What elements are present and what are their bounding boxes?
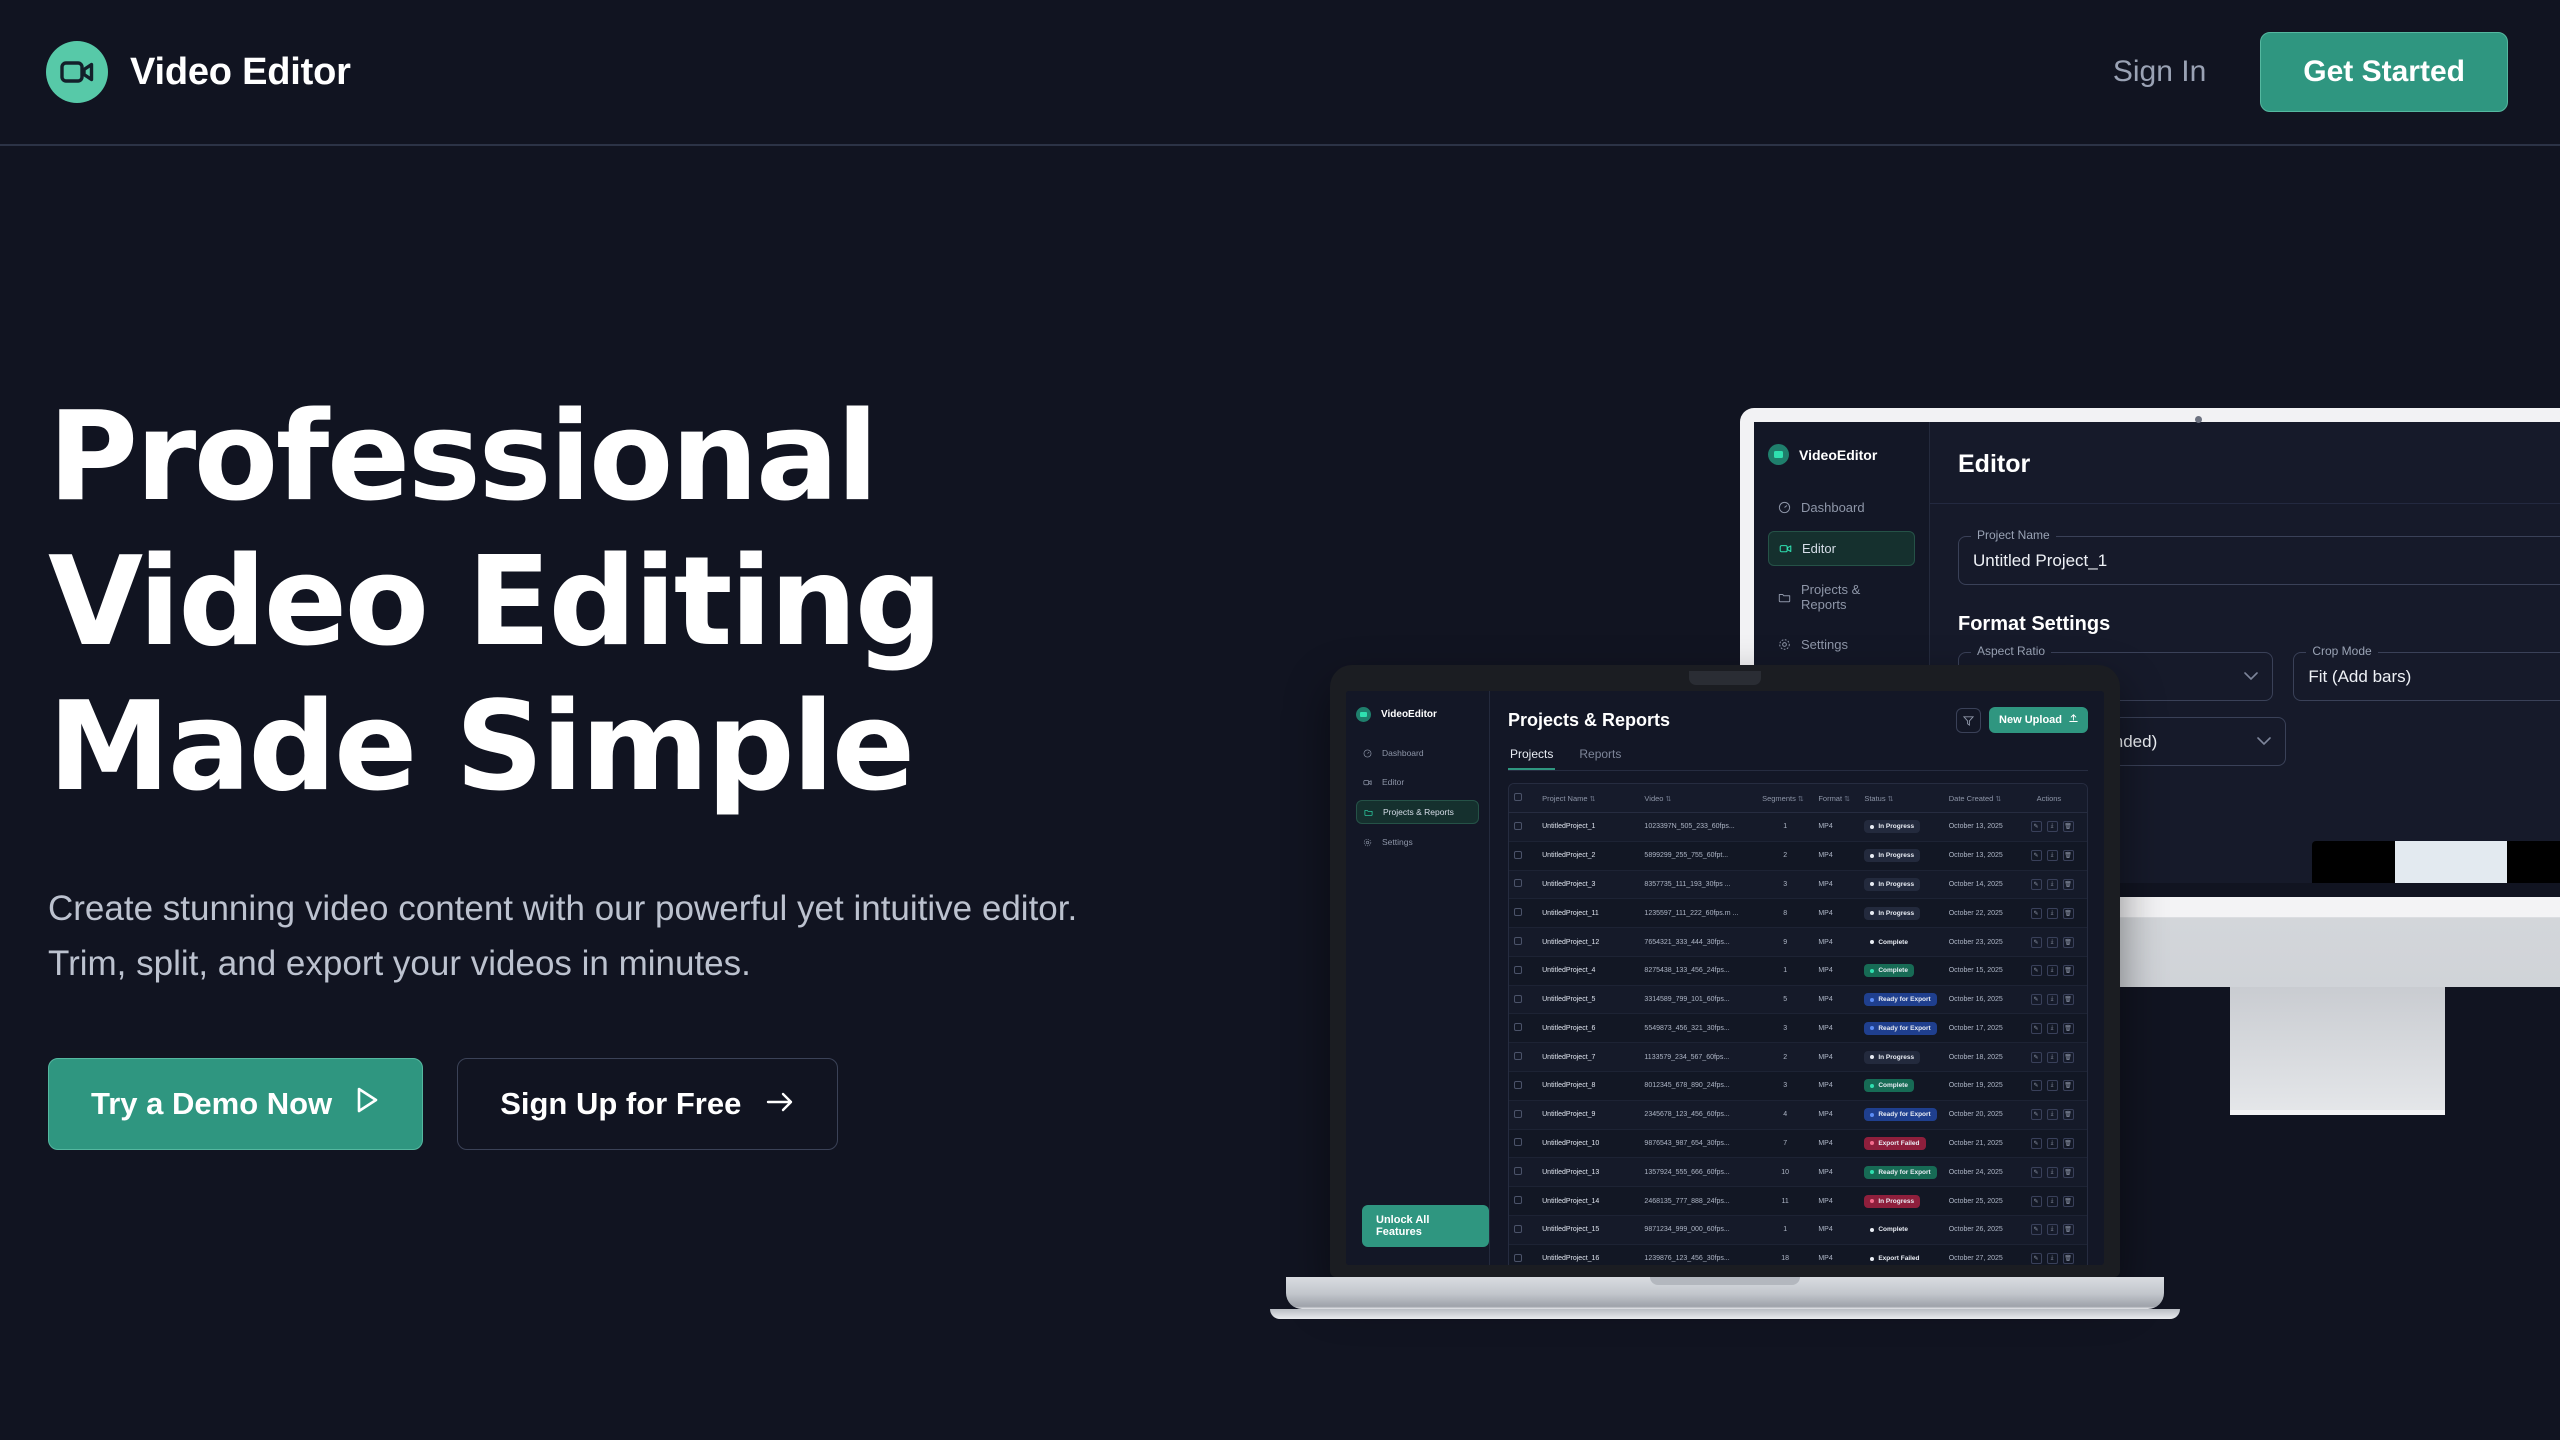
- cell-format: MP4: [1813, 1129, 1859, 1158]
- cell-video: 1235597_111_222_60fps.m ...: [1639, 899, 1757, 928]
- delete-trash-icon[interactable]: 🗑: [2063, 1109, 2074, 1120]
- video-camera-icon: [1356, 707, 1371, 722]
- delete-trash-icon[interactable]: 🗑: [2063, 994, 2074, 1005]
- delete-trash-icon[interactable]: 🗑: [2063, 821, 2074, 832]
- cell-video: 7654321_333_444_30fps...: [1639, 928, 1757, 957]
- row-checkbox[interactable]: [1514, 822, 1522, 830]
- table-body: UntitledProject_11023397N_505_233_60fps.…: [1509, 813, 2087, 1266]
- table-row[interactable]: UntitledProject_131357924_555_666_60fps.…: [1509, 1158, 2087, 1187]
- download-icon[interactable]: ⤓: [2047, 1196, 2058, 1207]
- sidebar-item-settings[interactable]: Settings: [1768, 628, 1915, 661]
- cell-segments: 5: [1757, 985, 1813, 1014]
- table-row[interactable]: UntitledProject_25899299_255_755_60fpt..…: [1509, 841, 2087, 870]
- cell-project-name: UntitledProject_4: [1537, 956, 1639, 985]
- cell-video: 8357735_111_193_30fps ...: [1639, 870, 1757, 899]
- delete-trash-icon[interactable]: 🗑: [2063, 1224, 2074, 1235]
- download-icon[interactable]: ⤓: [2047, 1253, 2058, 1264]
- cell-date-created: October 13, 2025: [1944, 813, 2026, 842]
- download-icon[interactable]: ⤓: [2047, 937, 2058, 948]
- laptop-lid: VideoEditor DashboardEditorProjects & Re…: [1330, 665, 2120, 1277]
- sort-icon[interactable]: ⇅: [1665, 796, 1671, 803]
- cell-segments: 3: [1757, 870, 1813, 899]
- delete-trash-icon[interactable]: 🗑: [2063, 937, 2074, 948]
- row-checkbox[interactable]: [1514, 937, 1522, 945]
- sort-icon[interactable]: ⇅: [1798, 796, 1804, 803]
- cell-actions: ✎⤓🗑: [2026, 1129, 2087, 1158]
- status-badge: In Progress: [1864, 878, 1920, 891]
- cell-actions: ✎⤓🗑: [2026, 813, 2087, 842]
- edit-icon[interactable]: ✎: [2031, 1080, 2042, 1091]
- preview-thumbnail: [2395, 841, 2507, 883]
- delete-trash-icon[interactable]: 🗑: [2063, 1080, 2074, 1091]
- filter-funnel-icon[interactable]: [1956, 708, 1981, 733]
- row-checkbox[interactable]: [1514, 1110, 1522, 1118]
- crop-mode-select[interactable]: Crop Mode Fit (Add bars): [2293, 652, 2560, 701]
- status-dot-icon: [1870, 1199, 1874, 1203]
- cell-format: MP4: [1813, 870, 1859, 899]
- aspect-ratio-label: Aspect Ratio: [1971, 644, 2051, 658]
- cell-status: In Progress: [1859, 1043, 1943, 1072]
- cell-date-created: October 27, 2025: [1944, 1244, 2026, 1265]
- arrow-right-icon: [765, 1086, 795, 1122]
- delete-trash-icon[interactable]: 🗑: [2063, 1052, 2074, 1063]
- row-checkbox-cell[interactable]: [1509, 1158, 1537, 1187]
- get-started-button[interactable]: Get Started: [2260, 32, 2508, 112]
- row-checkbox-cell[interactable]: [1509, 813, 1537, 842]
- unlock-all-features-button[interactable]: Unlock All Features: [1362, 1205, 1489, 1247]
- projects-table: Project Name⇅Video⇅Segments⇅Format⇅Statu…: [1508, 783, 2088, 1265]
- table-header-row: Project Name⇅Video⇅Segments⇅Format⇅Statu…: [1509, 784, 2087, 813]
- try-demo-button[interactable]: Try a Demo Now: [48, 1058, 423, 1150]
- cell-video: 8275438_133_456_24fps...: [1639, 956, 1757, 985]
- download-icon[interactable]: ⤓: [2047, 965, 2058, 976]
- cell-date-created: October 23, 2025: [1944, 928, 2026, 957]
- edit-icon[interactable]: ✎: [2031, 994, 2042, 1005]
- edit-icon[interactable]: ✎: [2031, 1196, 2042, 1207]
- row-checkbox-cell[interactable]: [1509, 956, 1537, 985]
- sidebar-item-editor[interactable]: Editor: [1356, 771, 1479, 793]
- edit-icon[interactable]: ✎: [2031, 1253, 2042, 1264]
- table-row[interactable]: UntitledProject_161239876_123_456_30fps.…: [1509, 1244, 2087, 1265]
- row-checkbox[interactable]: [1514, 851, 1522, 859]
- column-header-segments[interactable]: Segments⇅: [1757, 784, 1813, 813]
- cell-segments: 1: [1757, 956, 1813, 985]
- cell-format: MP4: [1813, 1244, 1859, 1265]
- play-triangle-icon: [354, 1086, 380, 1122]
- brand-logo[interactable]: Video Editor: [46, 41, 351, 103]
- select-all-checkbox[interactable]: [1514, 793, 1522, 801]
- status-badge: Ready for Export: [1864, 993, 1936, 1006]
- project-name-field[interactable]: Project Name Untitled Project_1: [1958, 536, 2560, 585]
- row-checkbox-cell[interactable]: [1509, 1014, 1537, 1043]
- row-checkbox-cell[interactable]: [1509, 985, 1537, 1014]
- cell-status: Ready for Export: [1859, 1014, 1943, 1043]
- cell-status: In Progress: [1859, 841, 1943, 870]
- table-row[interactable]: UntitledProject_142468135_777_888_24fps.…: [1509, 1187, 2087, 1216]
- app-brand: VideoEditor: [1768, 444, 1915, 465]
- page-title: Professional Video Editing Made Simple: [48, 385, 1148, 820]
- download-icon[interactable]: ⤓: [2047, 879, 2058, 890]
- cell-status: In Progress: [1859, 870, 1943, 899]
- cell-date-created: October 24, 2025: [1944, 1158, 2026, 1187]
- cell-actions: ✎⤓🗑: [2026, 956, 2087, 985]
- cell-video: 9876543_987_654_30fps...: [1639, 1129, 1757, 1158]
- edit-icon[interactable]: ✎: [2031, 937, 2042, 948]
- landing-page: Video Editor Sign In Get Started Profess…: [0, 0, 2560, 1440]
- row-checkbox-cell[interactable]: [1509, 899, 1537, 928]
- sidebar-item-label: Projects & Reports: [1383, 807, 1454, 817]
- status-badge: Complete: [1864, 1079, 1914, 1092]
- download-icon[interactable]: ⤓: [2047, 1138, 2058, 1149]
- row-checkbox[interactable]: [1514, 1254, 1522, 1262]
- column-header-project-name[interactable]: Project Name⇅: [1537, 784, 1639, 813]
- cell-date-created: October 13, 2025: [1944, 841, 2026, 870]
- status-badge: Export Failed: [1864, 1137, 1925, 1150]
- status-badge: In Progress: [1864, 1195, 1920, 1208]
- video-player-preview[interactable]: [2312, 841, 2560, 883]
- editor-page-title: Editor: [1958, 450, 2030, 479]
- table-row[interactable]: UntitledProject_48275438_133_456_24fps..…: [1509, 956, 2087, 985]
- cell-status: Export Failed: [1859, 1244, 1943, 1265]
- status-dot-icon: [1870, 1257, 1874, 1261]
- sort-icon[interactable]: ⇅: [1888, 796, 1894, 803]
- download-icon[interactable]: ⤓: [2047, 1109, 2058, 1120]
- cell-video: 5549873_456_321_30fps...: [1639, 1014, 1757, 1043]
- laptop-mockup: VideoEditor DashboardEditorProjects & Re…: [1330, 665, 2120, 1277]
- table-row[interactable]: UntitledProject_111235597_111_222_60fps.…: [1509, 899, 2087, 928]
- status-badge: In Progress: [1864, 849, 1920, 862]
- delete-trash-icon[interactable]: 🗑: [2063, 850, 2074, 861]
- edit-icon[interactable]: ✎: [2031, 1023, 2042, 1034]
- sign-in-link[interactable]: Sign In: [2113, 55, 2206, 89]
- sidebar-item-projects-reports[interactable]: Projects & Reports: [1768, 573, 1915, 621]
- cell-segments: 1: [1757, 813, 1813, 842]
- site-header: Video Editor Sign In Get Started: [0, 0, 2560, 146]
- select-all-header[interactable]: [1509, 784, 1537, 813]
- delete-trash-icon[interactable]: 🗑: [2063, 965, 2074, 976]
- sign-up-free-button[interactable]: Sign Up for Free: [457, 1058, 838, 1150]
- status-badge: Ready for Export: [1864, 1022, 1936, 1035]
- laptop-camera-notch: [1689, 671, 1761, 685]
- cell-status: In Progress: [1859, 899, 1943, 928]
- edit-icon[interactable]: ✎: [2031, 965, 2042, 976]
- cell-video: 2468135_777_888_24fps...: [1639, 1187, 1757, 1216]
- cell-format: MP4: [1813, 1014, 1859, 1043]
- status-badge: In Progress: [1864, 907, 1920, 920]
- row-checkbox[interactable]: [1514, 1225, 1522, 1233]
- cell-project-name: UntitledProject_2: [1537, 841, 1639, 870]
- cell-date-created: October 15, 2025: [1944, 956, 2026, 985]
- row-checkbox-cell[interactable]: [1509, 870, 1537, 899]
- cell-video: 1239876_123_456_30fps...: [1639, 1244, 1757, 1265]
- edit-icon[interactable]: ✎: [2031, 1167, 2042, 1178]
- delete-trash-icon[interactable]: 🗑: [2063, 1138, 2074, 1149]
- gauge-icon: [1363, 749, 1372, 758]
- cell-date-created: October 19, 2025: [1944, 1072, 2026, 1101]
- laptop-screen: VideoEditor DashboardEditorProjects & Re…: [1346, 691, 2104, 1265]
- status-dot-icon: [1870, 998, 1874, 1002]
- cell-format: MP4: [1813, 1072, 1859, 1101]
- edit-icon[interactable]: ✎: [2031, 1109, 2042, 1120]
- tab-reports[interactable]: Reports: [1577, 747, 1623, 770]
- row-checkbox[interactable]: [1514, 1196, 1522, 1204]
- table-row[interactable]: UntitledProject_53314589_799_101_60fps..…: [1509, 985, 2087, 1014]
- cell-actions: ✎⤓🗑: [2026, 841, 2087, 870]
- cell-segments: 8: [1757, 899, 1813, 928]
- download-icon[interactable]: ⤓: [2047, 1023, 2058, 1034]
- status-dot-icon: [1870, 1113, 1874, 1117]
- download-icon[interactable]: ⤓: [2047, 1080, 2058, 1091]
- download-icon[interactable]: ⤓: [2047, 1167, 2058, 1178]
- table-row[interactable]: UntitledProject_38357735_111_193_30fps .…: [1509, 870, 2087, 899]
- delete-trash-icon[interactable]: 🗑: [2063, 1167, 2074, 1178]
- cell-status: Export Failed: [1859, 1129, 1943, 1158]
- cell-actions: ✎⤓🗑: [2026, 1014, 2087, 1043]
- row-checkbox[interactable]: [1514, 1052, 1522, 1060]
- download-icon[interactable]: ⤓: [2047, 1052, 2058, 1063]
- cell-status: Complete: [1859, 1215, 1943, 1244]
- edit-icon[interactable]: ✎: [2031, 908, 2042, 919]
- cell-format: MP4: [1813, 956, 1859, 985]
- project-name-value: Untitled Project_1: [1973, 551, 2560, 571]
- laptop-nav-list: DashboardEditorProjects & ReportsSetting…: [1356, 742, 1479, 853]
- header-nav: Sign In Get Started: [2113, 32, 2508, 112]
- column-header-format[interactable]: Format⇅: [1813, 784, 1859, 813]
- laptop-base-notch: [1650, 1277, 1800, 1285]
- cell-actions: ✎⤓🗑: [2026, 1215, 2087, 1244]
- delete-trash-icon[interactable]: 🗑: [2063, 1253, 2074, 1264]
- edit-icon[interactable]: ✎: [2031, 821, 2042, 832]
- delete-trash-icon[interactable]: 🗑: [2063, 1196, 2074, 1207]
- download-icon[interactable]: ⤓: [2047, 821, 2058, 832]
- download-icon[interactable]: ⤓: [2047, 908, 2058, 919]
- cell-segments: 2: [1757, 841, 1813, 870]
- cell-format: MP4: [1813, 1187, 1859, 1216]
- cell-video: 1357924_555_666_60fps...: [1639, 1158, 1757, 1187]
- project-name-label: Project Name: [1971, 528, 2056, 542]
- cell-segments: 11: [1757, 1187, 1813, 1216]
- cell-actions: ✎⤓🗑: [2026, 1158, 2087, 1187]
- table-row[interactable]: UntitledProject_127654321_333_444_30fps.…: [1509, 928, 2087, 957]
- column-header-actions[interactable]: Actions: [2026, 784, 2087, 813]
- row-checkbox-cell[interactable]: [1509, 1244, 1537, 1265]
- cell-status: Ready for Export: [1859, 1158, 1943, 1187]
- sort-icon[interactable]: ⇅: [1590, 796, 1596, 803]
- sidebar-item-dashboard[interactable]: Dashboard: [1768, 491, 1915, 524]
- hero-line-2: Video Editing: [48, 530, 1148, 675]
- row-checkbox[interactable]: [1514, 879, 1522, 887]
- sidebar-item-label: Projects & Reports: [1801, 582, 1905, 612]
- crop-mode-label: Crop Mode: [2306, 644, 2377, 658]
- edit-icon[interactable]: ✎: [2031, 1052, 2042, 1063]
- status-badge: Complete: [1864, 936, 1914, 949]
- hero-line-1: Professional: [48, 385, 1148, 530]
- cell-project-name: UntitledProject_12: [1537, 928, 1639, 957]
- row-checkbox-cell[interactable]: [1509, 928, 1537, 957]
- projects-header-actions: New Upload: [1956, 707, 2088, 733]
- table-row[interactable]: UntitledProject_109876543_987_654_30fps.…: [1509, 1129, 2087, 1158]
- cell-status: Ready for Export: [1859, 1100, 1943, 1129]
- edit-icon[interactable]: ✎: [2031, 879, 2042, 890]
- status-badge: Ready for Export: [1864, 1108, 1936, 1121]
- cell-actions: ✎⤓🗑: [2026, 928, 2087, 957]
- download-icon[interactable]: ⤓: [2047, 1224, 2058, 1235]
- status-badge: Ready for Export: [1864, 1166, 1936, 1179]
- column-header-status[interactable]: Status⇅: [1859, 784, 1943, 813]
- cell-status: Complete: [1859, 956, 1943, 985]
- cell-segments: 18: [1757, 1244, 1813, 1265]
- cell-video: 1023397N_505_233_60fps...: [1639, 813, 1757, 842]
- row-checkbox[interactable]: [1514, 995, 1522, 1003]
- cell-format: MP4: [1813, 899, 1859, 928]
- row-checkbox[interactable]: [1514, 908, 1522, 916]
- sidebar-item-settings[interactable]: Settings: [1356, 831, 1479, 853]
- cell-project-name: UntitledProject_11: [1537, 899, 1639, 928]
- row-checkbox[interactable]: [1514, 1081, 1522, 1089]
- edit-icon[interactable]: ✎: [2031, 1224, 2042, 1235]
- cell-project-name: UntitledProject_16: [1537, 1244, 1639, 1265]
- row-checkbox-cell[interactable]: [1509, 1187, 1537, 1216]
- table-row[interactable]: UntitledProject_65549873_456_321_30fps..…: [1509, 1014, 2087, 1043]
- gear-icon: [1363, 838, 1372, 847]
- cell-video: 8012345_678_890_24fps...: [1639, 1072, 1757, 1101]
- status-dot-icon: [1870, 940, 1874, 944]
- delete-trash-icon[interactable]: 🗑: [2063, 879, 2074, 890]
- cell-project-name: UntitledProject_10: [1537, 1129, 1639, 1158]
- laptop-base-foot: [1270, 1309, 2180, 1319]
- monitor-stand: [2230, 987, 2445, 1115]
- status-badge: Complete: [1864, 1223, 1914, 1236]
- row-checkbox-cell[interactable]: [1509, 1129, 1537, 1158]
- row-checkbox-cell[interactable]: [1509, 1072, 1537, 1101]
- cell-project-name: UntitledProject_7: [1537, 1043, 1639, 1072]
- cell-format: MP4: [1813, 1100, 1859, 1129]
- new-upload-button[interactable]: New Upload: [1989, 707, 2088, 733]
- cell-project-name: UntitledProject_13: [1537, 1158, 1639, 1187]
- folder-icon: [1778, 591, 1791, 604]
- sidebar-item-editor[interactable]: Editor: [1768, 531, 1915, 566]
- row-checkbox[interactable]: [1514, 966, 1522, 974]
- gear-icon: [1778, 638, 1791, 651]
- status-badge: In Progress: [1864, 1051, 1920, 1064]
- hero-line-3: Made Simple: [48, 675, 1148, 820]
- cell-format: MP4: [1813, 985, 1859, 1014]
- row-checkbox-cell[interactable]: [1509, 1215, 1537, 1244]
- laptop-sidebar: VideoEditor DashboardEditorProjects & Re…: [1346, 691, 1490, 1265]
- row-checkbox-cell[interactable]: [1509, 841, 1537, 870]
- row-checkbox[interactable]: [1514, 1023, 1522, 1031]
- try-demo-label: Try a Demo Now: [91, 1086, 332, 1122]
- projects-header: Projects & Reports New Upload: [1508, 707, 2088, 733]
- cell-video: 1133579_234_567_60fps...: [1639, 1043, 1757, 1072]
- sidebar-item-dashboard[interactable]: Dashboard: [1356, 742, 1479, 764]
- table-row[interactable]: UntitledProject_71133579_234_567_60fps..…: [1509, 1043, 2087, 1072]
- sidebar-item-label: Settings: [1801, 637, 1848, 652]
- row-checkbox[interactable]: [1514, 1138, 1522, 1146]
- gauge-icon: [1778, 501, 1791, 514]
- device-mockups: VideoEditor DashboardEditorProjects & Re…: [1330, 370, 2560, 1200]
- cell-date-created: October 22, 2025: [1944, 899, 2026, 928]
- sidebar-item-label: Dashboard: [1801, 500, 1865, 515]
- upload-icon: [2069, 714, 2078, 726]
- cell-date-created: October 18, 2025: [1944, 1043, 2026, 1072]
- cell-format: MP4: [1813, 813, 1859, 842]
- video-camera-icon: [1363, 778, 1372, 787]
- delete-trash-icon[interactable]: 🗑: [2063, 1023, 2074, 1034]
- cell-video: 2345678_123_456_60fps...: [1639, 1100, 1757, 1129]
- cell-project-name: UntitledProject_6: [1537, 1014, 1639, 1043]
- status-dot-icon: [1870, 1228, 1874, 1232]
- status-dot-icon: [1870, 854, 1874, 858]
- editor-topbar: Editor Save Export: [1930, 422, 2560, 504]
- status-dot-icon: [1870, 1026, 1874, 1030]
- cell-date-created: October 17, 2025: [1944, 1014, 2026, 1043]
- video-camera-icon: [46, 41, 108, 103]
- row-checkbox-cell[interactable]: [1509, 1043, 1537, 1072]
- status-dot-icon: [1870, 1055, 1874, 1059]
- cell-segments: 9: [1757, 928, 1813, 957]
- status-dot-icon: [1870, 1141, 1874, 1145]
- cell-status: Complete: [1859, 1072, 1943, 1101]
- video-camera-icon: [1779, 542, 1792, 555]
- tab-projects[interactable]: Projects: [1508, 747, 1555, 770]
- cell-actions: ✎⤓🗑: [2026, 1072, 2087, 1101]
- delete-trash-icon[interactable]: 🗑: [2063, 908, 2074, 919]
- monitor-nav-list: DashboardEditorProjects & ReportsSetting…: [1768, 491, 1915, 661]
- cell-status: In Progress: [1859, 813, 1943, 842]
- cell-project-name: UntitledProject_9: [1537, 1100, 1639, 1129]
- cell-project-name: UntitledProject_5: [1537, 985, 1639, 1014]
- app-brand-name: VideoEditor: [1381, 709, 1437, 720]
- table-row[interactable]: UntitledProject_11023397N_505_233_60fps.…: [1509, 813, 2087, 842]
- download-icon[interactable]: ⤓: [2047, 994, 2058, 1005]
- row-checkbox-cell[interactable]: [1509, 1100, 1537, 1129]
- sort-icon[interactable]: ⇅: [1995, 796, 2001, 803]
- edit-icon[interactable]: ✎: [2031, 1138, 2042, 1149]
- table-row[interactable]: UntitledProject_88012345_678_890_24fps..…: [1509, 1072, 2087, 1101]
- app-brand-name: VideoEditor: [1799, 447, 1877, 463]
- cell-segments: 1: [1757, 1215, 1813, 1244]
- cell-date-created: October 20, 2025: [1944, 1100, 2026, 1129]
- column-header-video[interactable]: Video⇅: [1639, 784, 1757, 813]
- row-checkbox[interactable]: [1514, 1167, 1522, 1175]
- projects-page-title: Projects & Reports: [1508, 710, 1670, 731]
- cell-video: 9871234_999_000_60fps...: [1639, 1215, 1757, 1244]
- cell-segments: 10: [1757, 1158, 1813, 1187]
- cell-segments: 2: [1757, 1043, 1813, 1072]
- table-row[interactable]: UntitledProject_92345678_123_456_60fps..…: [1509, 1100, 2087, 1129]
- sort-icon[interactable]: ⇅: [1844, 796, 1850, 803]
- status-badge: Complete: [1864, 964, 1914, 977]
- sign-up-label: Sign Up for Free: [500, 1086, 741, 1122]
- chevron-down-icon: [2244, 668, 2258, 686]
- column-header-date-created[interactable]: Date Created⇅: [1944, 784, 2026, 813]
- cell-date-created: October 14, 2025: [1944, 870, 2026, 899]
- cell-status: In Progress: [1859, 1187, 1943, 1216]
- download-icon[interactable]: ⤓: [2047, 850, 2058, 861]
- cell-date-created: October 16, 2025: [1944, 985, 2026, 1014]
- cell-segments: 3: [1757, 1014, 1813, 1043]
- sidebar-item-projects-reports[interactable]: Projects & Reports: [1356, 800, 1479, 824]
- edit-icon[interactable]: ✎: [2031, 850, 2042, 861]
- cell-format: MP4: [1813, 1158, 1859, 1187]
- cell-status: Ready for Export: [1859, 985, 1943, 1014]
- table-row[interactable]: UntitledProject_159871234_999_000_60fps.…: [1509, 1215, 2087, 1244]
- brand-name: Video Editor: [130, 51, 351, 94]
- cell-actions: ✎⤓🗑: [2026, 1100, 2087, 1129]
- video-camera-icon: [1768, 444, 1789, 465]
- cell-video: 5899299_255_755_60fpt...: [1639, 841, 1757, 870]
